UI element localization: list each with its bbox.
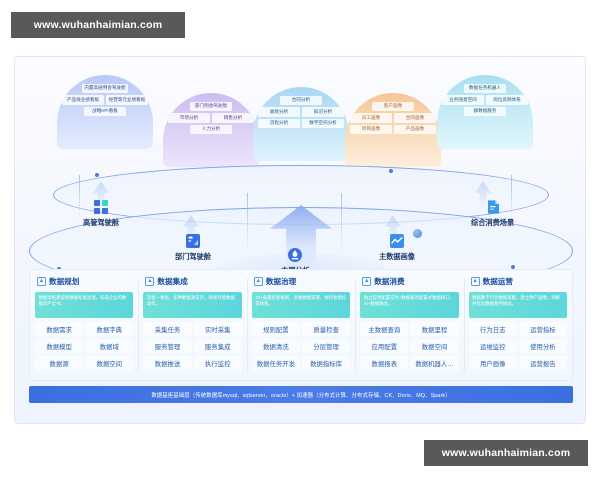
connector-stem-3	[341, 193, 342, 249]
dome-3-mid-left-chip: 收款分析	[258, 107, 300, 116]
panel-header-3: ▲ 数据治理	[252, 276, 350, 287]
panel-cell[interactable]: 数据模型	[35, 339, 83, 353]
architecture-diagram-card: 内置高层例会驾驶舱 产品线业绩看板 经营单元业绩看板 战略KPI看板 部门例会驾…	[14, 56, 586, 424]
dome-2-mid-right-chip: 销售分析	[212, 113, 254, 122]
screenshot-root: www.wuhanhaimian.com www.wuhanhaimian.co…	[0, 0, 600, 480]
dome-4-top-chip: 客户画像	[372, 102, 414, 111]
panel-cell[interactable]: 实时采集	[194, 322, 242, 336]
node-executive-cockpit[interactable]: 高管驾驶舱	[83, 199, 119, 228]
document-icon	[485, 199, 501, 215]
panel-header-5: ▲ 数据运营	[469, 276, 567, 287]
panel-column-data-integration[interactable]: ▲ 数据集成 流批一体化、多种数据源支持，快速对接数据动作。 采集任务 实时采集…	[138, 270, 246, 380]
panel-cell[interactable]: 运营指标	[519, 322, 567, 336]
analysis-circle-icon	[287, 247, 303, 263]
dome-4-mid-right-chip: 合同画像	[394, 113, 436, 122]
panel-cell[interactable]: 数据字典	[85, 322, 133, 336]
panel-cell[interactable]: 行为日志	[469, 322, 517, 336]
panel-desc-4: 独立应用配置交付+数据服务配置式数据接口，AI+数据融合。	[360, 292, 458, 318]
panel-header-2: ▲ 数据集成	[143, 276, 241, 287]
panel-desc-2: 流批一体化、多种数据源支持，快速对接数据动作。	[143, 292, 241, 318]
panel-cell[interactable]: 数据清洗	[252, 339, 300, 353]
panel-cell[interactable]: 规则配置	[252, 322, 300, 336]
connector-stem-1	[79, 175, 80, 217]
panel-grid-1: 数据需求 数据字典 数据模型 数据域 数据源 数据空间	[35, 322, 133, 371]
panel-cell[interactable]: 运维监控	[469, 339, 517, 353]
foundation-layer-bar: 数据基座基础层（传统数据库mysql、sqlserver、oracle）+ 加速…	[29, 386, 573, 403]
panel-cell[interactable]: 主数据查询	[360, 322, 408, 336]
cube-icon: ▲	[37, 277, 46, 286]
panel-cell[interactable]: 数据需求	[35, 322, 83, 336]
panel-cell[interactable]: 数据里程	[410, 322, 458, 336]
node-dot-1	[95, 173, 99, 177]
dome-5-top-chip: 数据任务机器人	[464, 84, 506, 93]
cube-icon: ▲	[145, 277, 154, 286]
dome-4-mid-left-chip: 员工画像	[350, 113, 392, 122]
panel-cell[interactable]: 运营报告	[519, 356, 567, 370]
dome-4-bottom-right-chip: 产品画像	[394, 125, 436, 134]
dome-5-mid-left-chip: 业务随意空间	[442, 95, 484, 104]
panel-cell[interactable]: 数据推送	[143, 356, 191, 370]
panel-cell[interactable]: 服务集成	[194, 339, 242, 353]
panel-cell[interactable]: 数据空间	[410, 339, 458, 353]
panel-cell[interactable]: 数据报表	[360, 356, 408, 370]
node-integrated-consumption[interactable]: 综合消费场景	[471, 199, 514, 228]
dome-integrated-consumption[interactable]: 数据任务机器人 业务随意空间 岗位高频体系 群数据服务	[437, 75, 533, 149]
panel-title-5: 数据运营	[483, 276, 513, 287]
panel-title-3: 数据治理	[266, 276, 296, 287]
panel-cell[interactable]: 执行监控	[194, 356, 242, 370]
panel-header-1: ▲ 数据规划	[35, 276, 133, 287]
panel-title-1: 数据规划	[49, 276, 79, 287]
panel-cell[interactable]: 数据空间	[85, 356, 133, 370]
cube-icon: ▲	[362, 277, 371, 286]
panel-desc-3: 20+质量检查规则，多维数据管理，依托智能标签体系。	[252, 292, 350, 318]
panel-desc-5: 数据数字行为数据采集，建立用户画像，洞察并优化数据使用体验。	[469, 292, 567, 318]
panel-cell[interactable]: 使用分析	[519, 339, 567, 353]
dome-row: 内置高层例会驾驶舱 产品线业绩看板 经营单元业绩看板 战略KPI看板 部门例会驾…	[15, 57, 586, 167]
dome-theme-analysis[interactable]: 合同分析 收款分析 知识分析 流程分析 数字空间分析	[253, 87, 349, 161]
connector-stem-2	[247, 193, 248, 249]
chart-card-icon	[185, 233, 201, 249]
watermark-top: www.wuhanhaimian.com	[11, 12, 185, 38]
wave-chart-icon	[389, 233, 405, 249]
node-label-2: 部门驾驶舱	[175, 252, 211, 262]
grid-squares-icon	[93, 199, 109, 215]
dome-executive-cockpit[interactable]: 内置高层例会驾驶舱 产品线业绩看板 经营单元业绩看板 战略KPI看板	[57, 75, 153, 149]
watermark-bottom: www.wuhanhaimian.com	[424, 440, 588, 466]
panel-grid-4: 主数据查询 数据里程 应用配置 数据空间 数据报表 数据机器人…	[360, 322, 458, 371]
dome-2-top-chip: 部门例会驾驶舱	[190, 102, 232, 111]
node-master-data-profile[interactable]: 主数据画像	[379, 233, 415, 262]
panel-column-data-planning[interactable]: ▲ 数据规划 数据架构建设和数据标准治理，形成企业的数据资产全书。 数据需求 数…	[30, 270, 138, 380]
panel-header-4: ▲ 数据消费	[360, 276, 458, 287]
dome-1-mid-right-chip: 经营单元业绩看板	[106, 95, 148, 104]
panel-title-2: 数据集成	[157, 276, 187, 287]
panel-column-data-consumption[interactable]: ▲ 数据消费 独立应用配置交付+数据服务配置式数据接口，AI+数据融合。 主数据…	[355, 270, 463, 380]
panel-cell[interactable]: 分层管理	[302, 339, 350, 353]
node-department-cockpit[interactable]: 部门驾驶舱	[175, 233, 211, 262]
dome-2-bottom-chip: 人力分析	[190, 125, 232, 134]
dome-2-mid-left-chip: 市场分析	[168, 113, 210, 122]
dome-1-top-chip: 内置高层例会驾驶舱	[82, 84, 127, 93]
node-label-5: 综合消费场景	[471, 218, 514, 228]
panel-cell[interactable]: 用户画像	[469, 356, 517, 370]
dome-3-bottom-right-chip: 数字空间分析	[302, 119, 344, 128]
cube-icon: ▲	[471, 277, 480, 286]
dome-1-bottom-chip: 战略KPI看板	[84, 107, 126, 116]
node-label-4: 主数据画像	[379, 252, 415, 262]
panel-cell[interactable]: 数据域	[85, 339, 133, 353]
dome-master-data-profile[interactable]: 客户画像 员工画像 合同画像 项目画像 产品画像	[345, 93, 441, 167]
panel-cell[interactable]: 应用配置	[360, 339, 408, 353]
panel-cell[interactable]: 数据指标库	[302, 356, 350, 370]
dome-3-top-chip: 合同分析	[280, 96, 322, 105]
panel-grid-2: 采集任务 实时采集 服务管理 服务集成 数据推送 执行监控	[143, 322, 241, 371]
capability-panel: ▲ 数据规划 数据架构建设和数据标准治理，形成企业的数据资产全书。 数据需求 数…	[29, 269, 573, 381]
panel-cell[interactable]: 质量检查	[302, 322, 350, 336]
panel-column-data-operations[interactable]: ▲ 数据运营 数据数字行为数据采集，建立用户画像，洞察并优化数据使用体验。 行为…	[464, 270, 572, 380]
panel-cell[interactable]: 采集任务	[143, 322, 191, 336]
dome-4-bottom-left-chip: 项目画像	[350, 125, 392, 134]
panel-cell[interactable]: 服务管理	[143, 339, 191, 353]
panel-desc-1: 数据架构建设和数据标准治理，形成企业的数据资产全书。	[35, 292, 133, 318]
dome-3-mid-right-chip: 知识分析	[302, 107, 344, 116]
node-dot-2	[389, 169, 393, 173]
dome-department-cockpit[interactable]: 部门例会驾驶舱 市场分析 销售分析 人力分析	[163, 93, 259, 167]
panel-title-4: 数据消费	[374, 276, 404, 287]
panel-cell[interactable]: 数据机器人…	[410, 356, 458, 370]
panel-grid-3: 规则配置 质量检查 数据清洗 分层管理 数据任务开发 数据指标库	[252, 322, 350, 371]
dome-3-bottom-left-chip: 流程分析	[258, 119, 300, 128]
panel-column-data-governance[interactable]: ▲ 数据治理 20+质量检查规则，多维数据管理，依托智能标签体系。 规则配置 质…	[247, 270, 355, 380]
panel-cell[interactable]: 数据源	[35, 356, 83, 370]
panel-cell[interactable]: 数据任务开发	[252, 356, 300, 370]
dome-5-mid-right-chip: 岗位高频体系	[486, 95, 528, 104]
panel-grid-5: 行为日志 运营指标 运维监控 使用分析 用户画像 运营报告	[469, 322, 567, 371]
node-label-1: 高管驾驶舱	[83, 218, 119, 228]
cube-icon: ▲	[254, 277, 263, 286]
dome-1-mid-left-chip: 产品线业绩看板	[62, 95, 104, 104]
dome-5-bottom-chip: 群数据服务	[464, 107, 506, 116]
